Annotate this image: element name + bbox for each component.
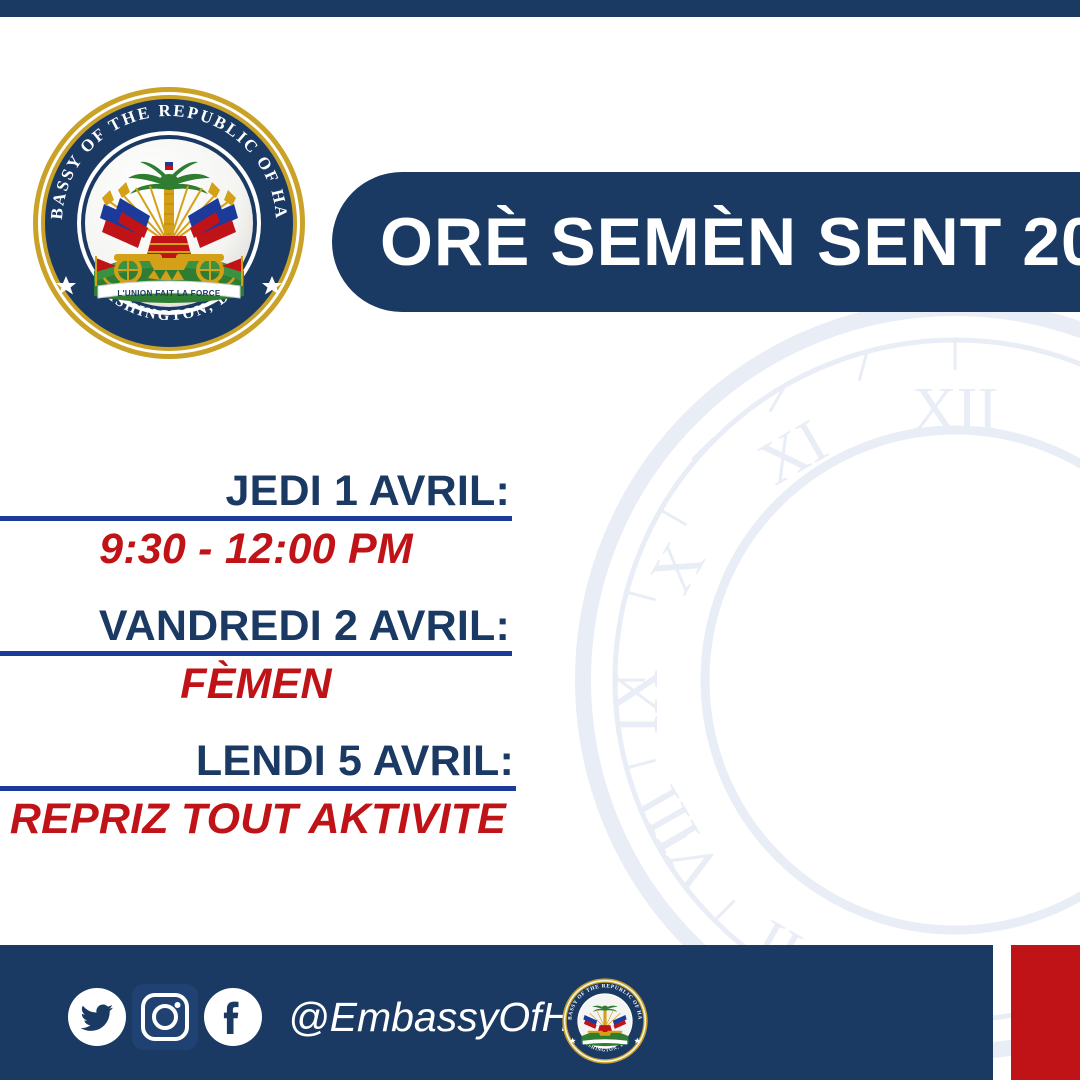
twitter-icon[interactable] xyxy=(68,988,126,1046)
svg-text:X: X xyxy=(637,532,718,605)
schedule-entry: JEDI 1 AVRIL: 9:30 - 12:00 PM xyxy=(0,468,640,575)
schedule-divider xyxy=(0,786,516,791)
instagram-icon[interactable] xyxy=(132,984,198,1050)
poster-canvas: XII XI X IX VIII VII xyxy=(0,0,1080,1080)
schedule-day-label: JEDI 1 AVRIL: xyxy=(0,468,512,514)
schedule-day-label: VANDREDI 2 AVRIL: xyxy=(0,603,512,649)
schedule-entry: VANDREDI 2 AVRIL: FÈMEN xyxy=(0,603,640,710)
embassy-seal: EMBASSY OF THE REPUBLIC OF HAITI WASHING… xyxy=(32,86,306,360)
svg-text:XII: XII xyxy=(912,376,998,444)
seal-motto: L'UNION FAIT LA FORCE xyxy=(117,289,221,298)
page-title: ORÈ SEMÈN SENT 2021 xyxy=(380,208,1080,276)
svg-text:VIII: VIII xyxy=(624,775,736,901)
footer-embassy-seal: EMBASSY OF THE REPUBLIC OF HAITI WASHING… xyxy=(562,978,648,1064)
schedule-list: JEDI 1 AVRIL: 9:30 - 12:00 PM VANDREDI 2… xyxy=(0,468,640,845)
title-banner: ORÈ SEMÈN SENT 2021 xyxy=(332,172,1080,312)
facebook-icon[interactable] xyxy=(204,988,262,1046)
svg-text:XI: XI xyxy=(748,407,839,499)
schedule-entry: LENDI 5 AVRIL: REPRIZ TOUT AKTIVITE xyxy=(0,738,640,845)
schedule-day-label: LENDI 5 AVRIL: xyxy=(0,738,516,784)
top-accent-bar xyxy=(0,0,1080,17)
schedule-day-value: FÈMEN xyxy=(0,660,512,709)
schedule-day-value: 9:30 - 12:00 PM xyxy=(0,525,512,574)
schedule-divider xyxy=(0,651,512,656)
schedule-day-value: REPRIZ TOUT AKTIVITE xyxy=(0,795,516,844)
social-links: @EmbassyOfHaiti xyxy=(68,984,624,1050)
footer-red-accent xyxy=(1011,945,1080,1080)
schedule-divider xyxy=(0,516,512,521)
